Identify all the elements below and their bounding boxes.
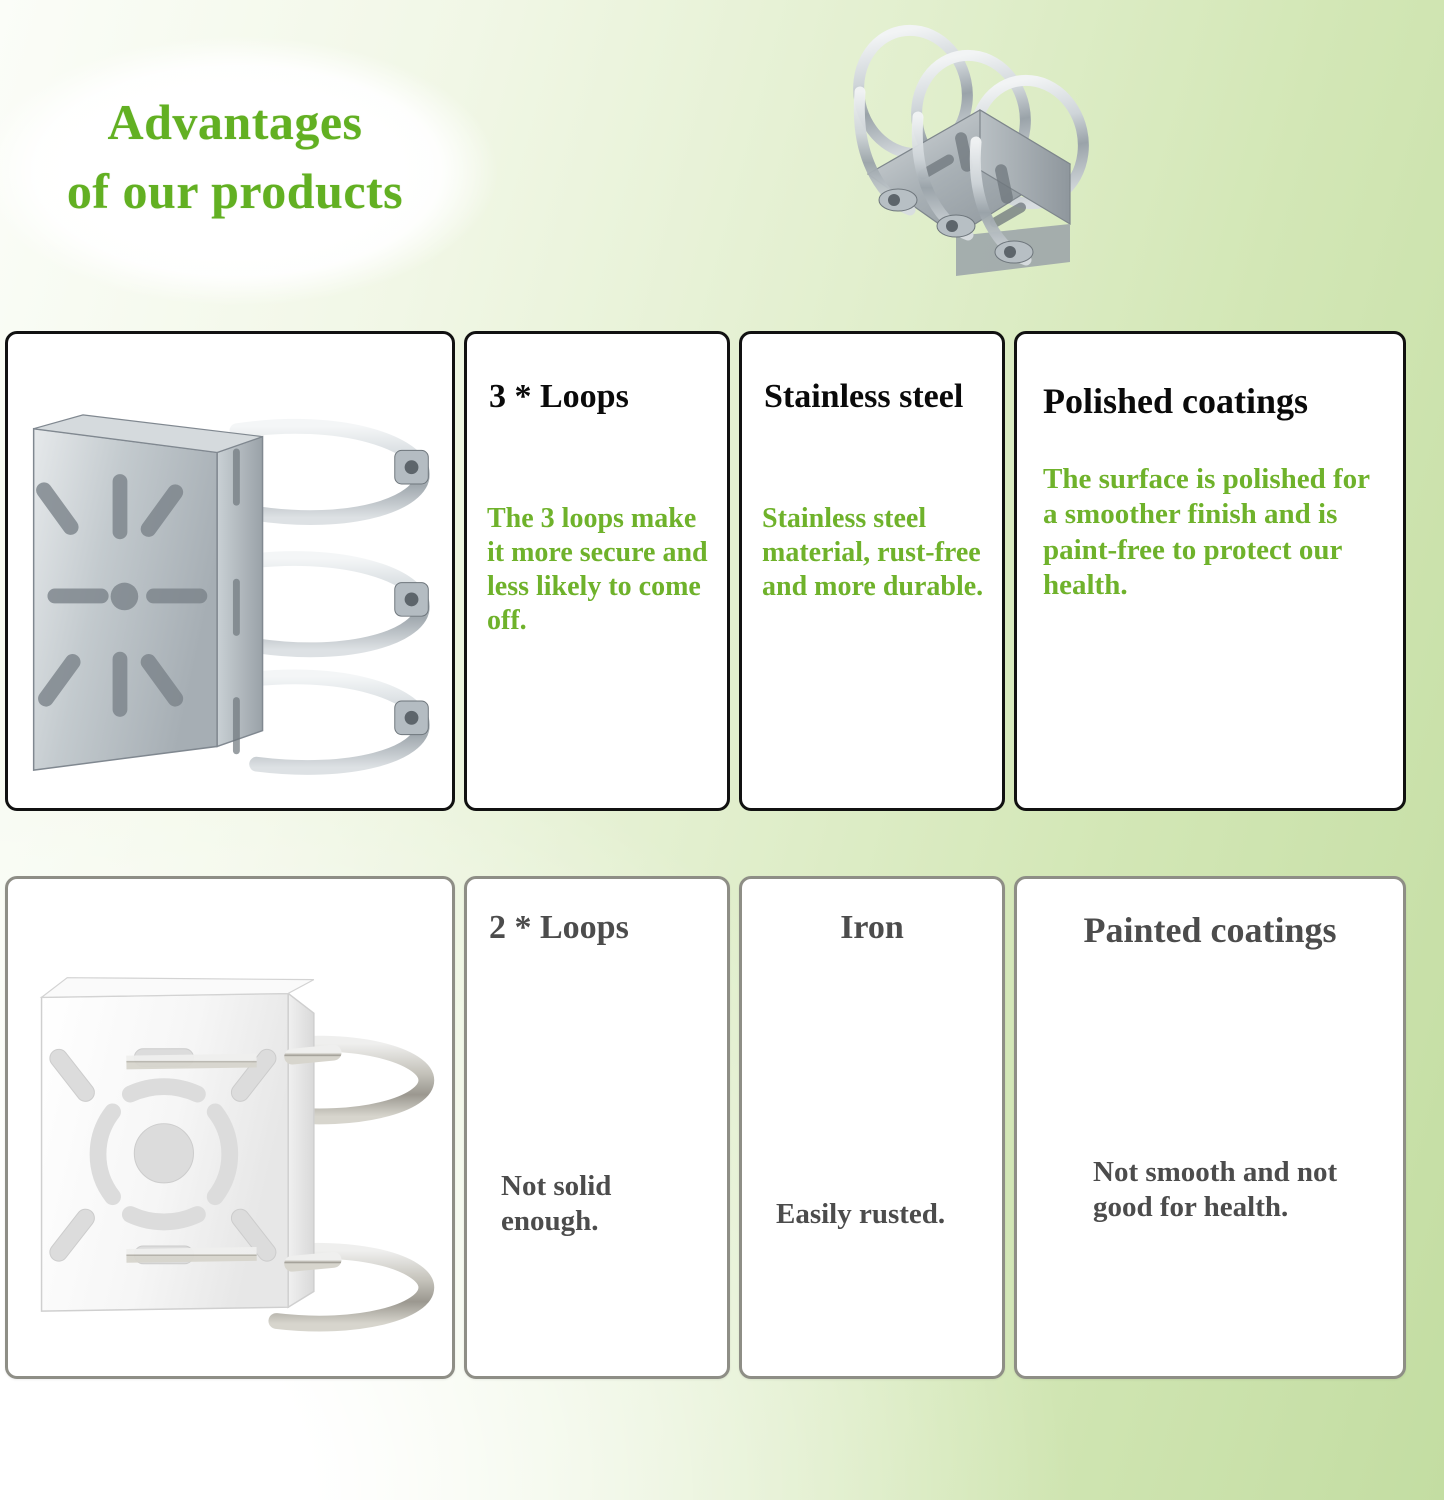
advantage-card-material-title: Stainless steel [764,378,963,415]
advantages-row: 3 * Loops The 3 loops make it more secur… [5,331,1413,811]
advantage-card-loops-body: The 3 loops make it more secure and less… [487,502,711,639]
drawback-card-material-title: Iron [742,909,1002,946]
advantage-card-loops: 3 * Loops The 3 loops make it more secur… [464,331,730,811]
stainless-bracket-3-clamp-icon [838,14,1130,314]
page-title-line-1: Advantages [0,88,470,157]
drawback-card-material: Iron Easily rusted. [739,876,1005,1379]
advantage-card-loops-title: 3 * Loops [489,378,629,415]
drawback-card-coating-title: Painted coatings [1017,911,1403,951]
drawback-card-loops-body: Not solid enough. [501,1169,711,1240]
infographic-background: Advantages of our products [0,0,1444,1500]
page-title: Advantages of our products [0,88,470,226]
hero-product-image [838,14,1130,314]
advantage-card-coating-body: The surface is polished for a smoother f… [1043,462,1385,604]
drawback-card-loops-title: 2 * Loops [489,909,629,946]
advantage-card-coating: Polished coatings The surface is polishe… [1014,331,1406,811]
drawback-product-image-card [5,876,455,1379]
advantage-product-image-card [5,331,455,811]
page-title-line-2: of our products [0,157,470,226]
advantage-card-material-body: Stainless steel material, rust-free and … [762,502,986,604]
white-painted-bracket-2-clamp-icon [8,879,452,1375]
stainless-bracket-3-clamp-icon [8,334,452,808]
drawback-card-coating: Painted coatings Not smooth and not good… [1014,876,1406,1379]
drawback-card-loops: 2 * Loops Not solid enough. [464,876,730,1379]
advantage-card-material: Stainless steel Stainless steel material… [739,331,1005,811]
drawback-card-coating-body: Not smooth and not good for health. [1093,1155,1385,1226]
drawback-card-material-body: Easily rusted. [776,1197,986,1232]
advantage-card-coating-title: Polished coatings [1043,382,1308,422]
drawbacks-row: 2 * Loops Not solid enough. Iron Easily … [5,876,1413,1379]
